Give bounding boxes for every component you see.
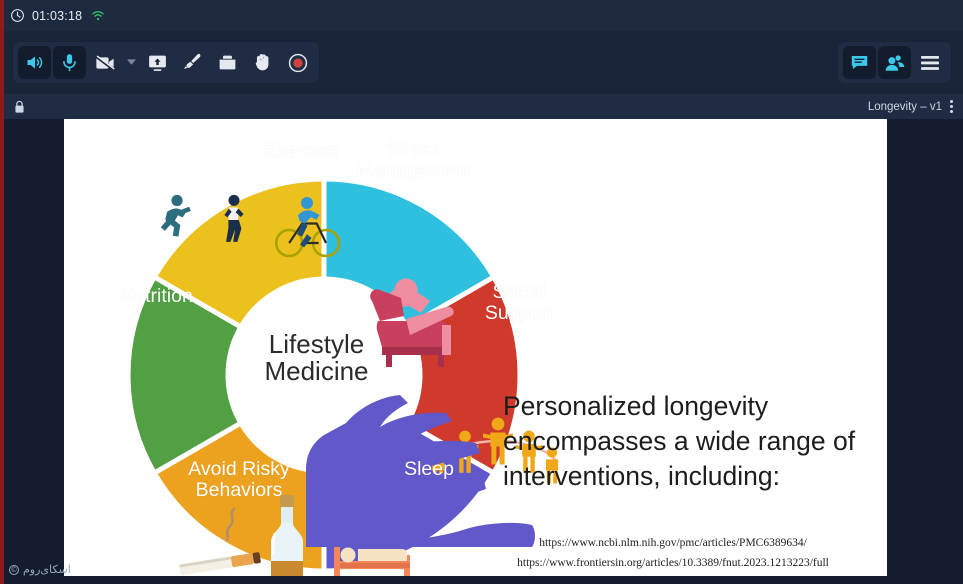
share-screen-button[interactable]	[141, 46, 174, 79]
clock-icon	[10, 8, 25, 23]
participants-button[interactable]	[878, 46, 911, 79]
reference-link-2: https://www.frontiersin.org/articles/10.…	[463, 554, 883, 574]
record-button[interactable]	[281, 46, 314, 79]
slide-references: https://www.ncbi.nlm.nih.gov/pmc/article…	[463, 534, 883, 574]
microphone-button[interactable]	[53, 46, 86, 79]
chevron-down-icon[interactable]	[123, 48, 139, 78]
app-window: 01:03:18	[0, 0, 963, 584]
chat-button[interactable]	[843, 46, 876, 79]
speaker-button[interactable]	[18, 46, 51, 79]
session-timer: 01:03:18	[32, 9, 82, 23]
left-edge-strip	[0, 0, 4, 584]
main-toolbar	[4, 31, 963, 94]
wifi-icon	[89, 7, 106, 24]
kebab-menu-icon[interactable]	[948, 98, 955, 115]
lifestyle-medicine-wheel: z z z	[66, 119, 586, 584]
document-title[interactable]: Longevity – v1	[868, 101, 942, 113]
tab-controls: Longevity – v1	[868, 98, 955, 115]
document-tab-strip: Longevity – v1	[4, 94, 963, 119]
reference-link-1: https://www.ncbi.nlm.nih.gov/pmc/article…	[463, 534, 883, 554]
toolbar-right-group	[838, 42, 951, 83]
status-bar: 01:03:18	[0, 0, 963, 31]
toolbar-left-group	[13, 42, 319, 83]
lock-icon	[14, 100, 25, 114]
bottom-strip	[0, 576, 963, 584]
presentation-stage: z z z	[4, 119, 963, 584]
whiteboard-button[interactable]	[176, 46, 209, 79]
raise-hand-button[interactable]	[246, 46, 279, 79]
menu-button[interactable]	[913, 46, 946, 79]
files-button[interactable]	[211, 46, 244, 79]
slide-canvas[interactable]: z z z	[64, 119, 887, 584]
camera-off-button[interactable]	[88, 46, 121, 79]
slide-body-text: Personalized longevity encompasses a wid…	[503, 389, 863, 495]
